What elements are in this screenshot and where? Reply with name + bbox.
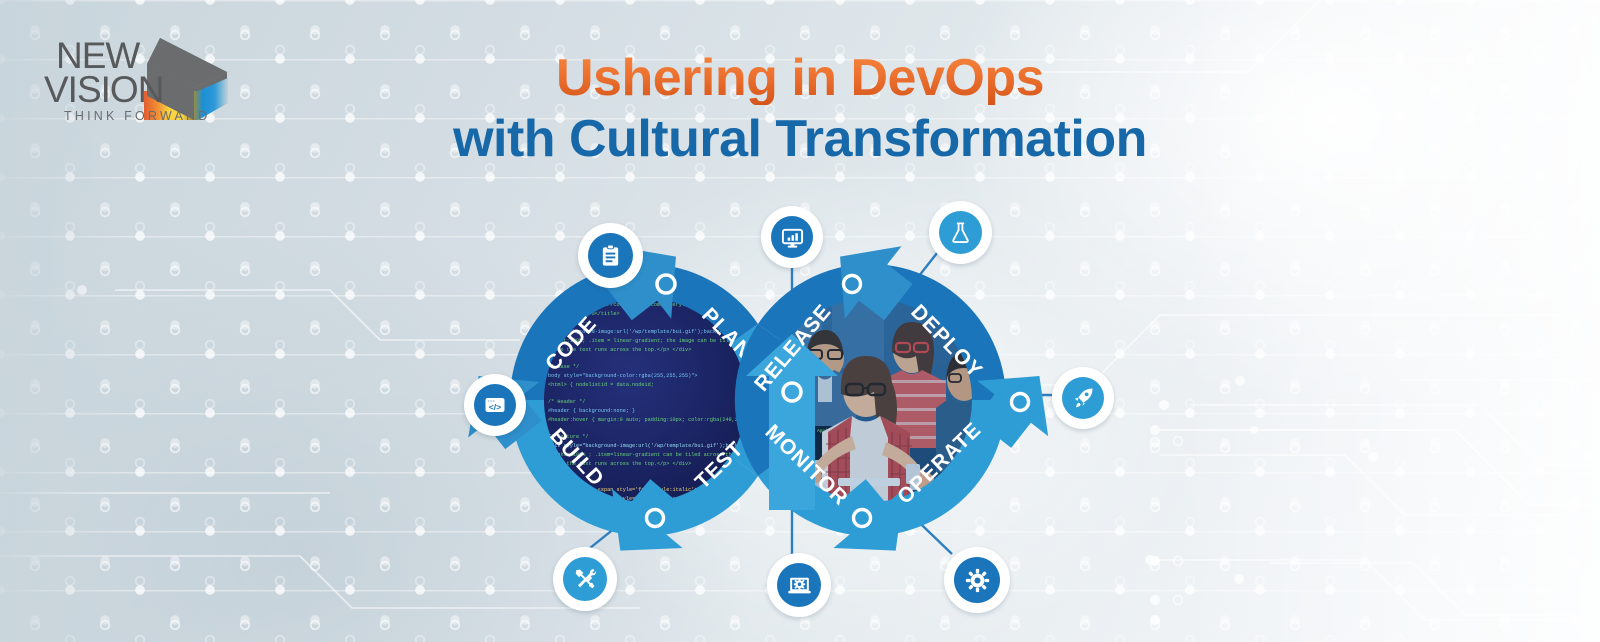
svg-text:<div> { background:0; b }: <div> { background:0; b } — [608, 612, 686, 618]
svg-text:#body { margin:0; padding:0; }: #body { margin:0; padding:0; } — [592, 603, 685, 609]
company-logo[interactable]: NEW VISION THINK FORWARD — [42, 28, 242, 128]
badge-operate[interactable] — [1052, 367, 1114, 429]
svg-text:/* Header */: /* Header */ — [548, 399, 585, 405]
badge-plan[interactable] — [578, 223, 643, 288]
svg-text:#header { background:none; }: #header { background:none; } — [548, 408, 635, 414]
page-title: Ushering in DevOps with Cultural Transfo… — [300, 52, 1300, 166]
laptop-gear-icon — [787, 573, 812, 598]
badge-deploy[interactable] — [929, 201, 992, 264]
svg-text:<html> { nodelistid = data.nod: <html> { nodelistid = data.nodeid; — [548, 382, 654, 388]
tools-icon — [573, 567, 597, 591]
svg-text:/* Content */: /* Content */ — [548, 540, 588, 546]
headline-line-1: Ushering in DevOps — [300, 52, 1300, 105]
clipboard-icon — [599, 244, 622, 267]
logo-tagline: THINK FORWARD — [64, 109, 210, 123]
badge-monitor[interactable] — [944, 547, 1010, 613]
badge-release[interactable] — [761, 206, 823, 268]
logo-text-vision: VISION — [44, 69, 163, 110]
gear-icon — [965, 568, 990, 593]
monitor-chart-icon — [781, 226, 804, 249]
rocket-icon — [1071, 386, 1095, 410]
flask-icon — [949, 221, 972, 244]
headline-line-2: with Cultural Transformation — [300, 113, 1300, 166]
svg-text:</>: </> — [489, 402, 501, 412]
badge-code[interactable]: </> — [464, 374, 526, 436]
badge-build[interactable] — [553, 547, 617, 611]
svg-text:body style="background-color:r: body style="background-color:rgba(255,25… — [548, 373, 697, 379]
banner-canvas: NEW VISION THINK FORWARD Ushering in Dev… — [0, 0, 1600, 642]
badge-test[interactable] — [767, 553, 831, 617]
code-window-icon: </> — [483, 393, 507, 417]
